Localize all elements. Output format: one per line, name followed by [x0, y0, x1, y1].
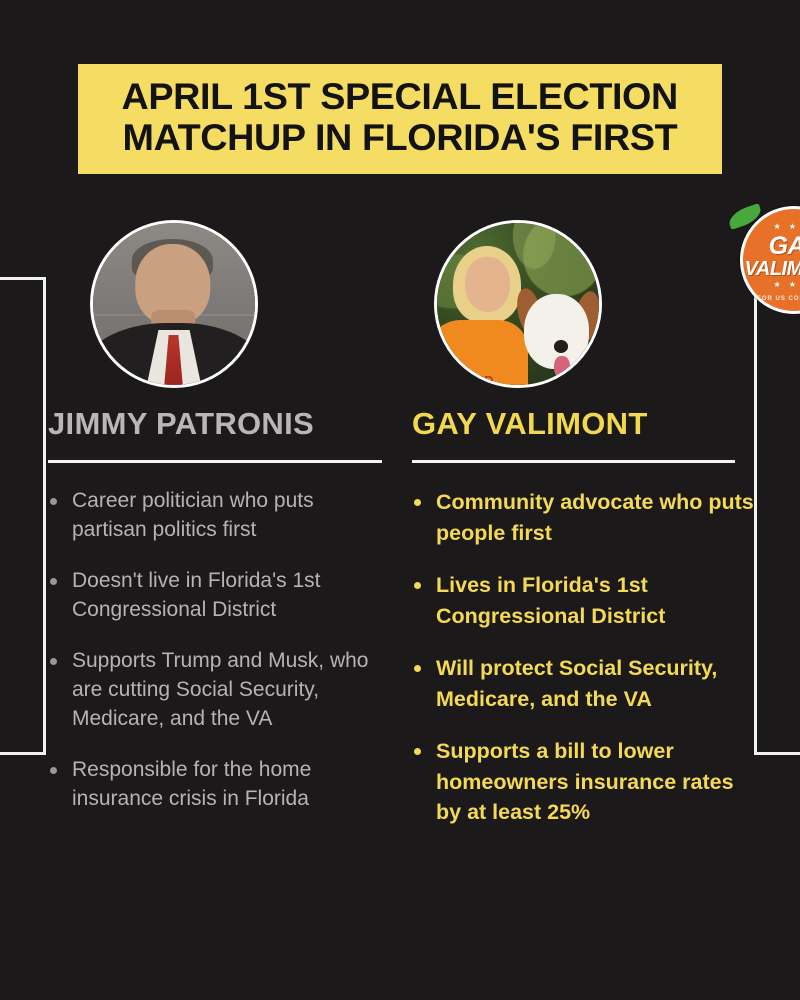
list-item: Doesn't live in Florida's 1st Congressio…: [48, 567, 382, 625]
campaign-logo-badge: ★ ★ ★ GAY VALIMONT ★ ★ ★ FOR US CONGRESS: [740, 206, 800, 314]
election-matchup-poster: APRIL 1ST SPECIAL ELECTION MATCHUP IN FL…: [0, 0, 800, 1000]
photo-dog-nose: [554, 340, 569, 353]
avatar-patronis: [90, 220, 258, 388]
list-item: Community advocate who puts people first: [412, 487, 755, 548]
badge-stars-bottom: ★ ★ ★: [740, 281, 800, 289]
list-item: Supports a bill to lower homeowners insu…: [412, 736, 755, 828]
divider-rule-patronis: [48, 460, 382, 463]
badge-stars-top: ★ ★ ★: [740, 223, 800, 231]
bullet-list-patronis: Career politician who puts partisan poli…: [48, 487, 382, 814]
bullet-list-valimont: Community advocate who puts people first…: [412, 487, 755, 828]
photo-orange-shirt: SU FED: [434, 320, 528, 388]
photo-shirt-text: SU FED: [443, 374, 494, 388]
badge-subtitle: FOR US CONGRESS: [740, 296, 800, 302]
photo-valimont: SU FED: [437, 223, 599, 385]
portrait-area-patronis: [48, 196, 382, 406]
candidate-columns: JIMMY PATRONIS Career politician who put…: [0, 196, 800, 986]
candidate-name-patronis: JIMMY PATRONIS: [48, 406, 382, 442]
candidate-name-valimont: GAY VALIMONT: [412, 406, 755, 442]
avatar-valimont: SU FED: [434, 220, 602, 388]
divider-rule-valimont: [412, 460, 735, 463]
list-item: Will protect Social Security, Medicare, …: [412, 653, 755, 714]
photo-dog-tongue: [554, 356, 570, 379]
badge-name-line-2: VALIMONT: [740, 259, 800, 279]
list-item: Responsible for the home insurance crisi…: [48, 756, 382, 814]
headline-line-1: APRIL 1ST SPECIAL ELECTION: [122, 76, 678, 117]
candidate-column-valimont: SU FED ★ ★ ★ GAY VALIMONT: [400, 196, 800, 986]
list-item: Career politician who puts partisan poli…: [48, 487, 382, 545]
portrait-area-valimont: SU FED ★ ★ ★ GAY VALIMONT: [412, 196, 755, 406]
candidate-column-patronis: JIMMY PATRONIS Career politician who put…: [0, 196, 400, 986]
headline-banner: APRIL 1ST SPECIAL ELECTION MATCHUP IN FL…: [78, 64, 722, 174]
badge-name-line-1: GAY: [740, 234, 800, 259]
headline-line-2: MATCHUP IN FLORIDA'S FIRST: [123, 117, 678, 158]
photo-patronis: [93, 223, 255, 385]
list-item: Lives in Florida's 1st Congressional Dis…: [412, 570, 755, 631]
photo-face: [465, 257, 510, 312]
list-item: Supports Trump and Musk, who are cutting…: [48, 647, 382, 734]
